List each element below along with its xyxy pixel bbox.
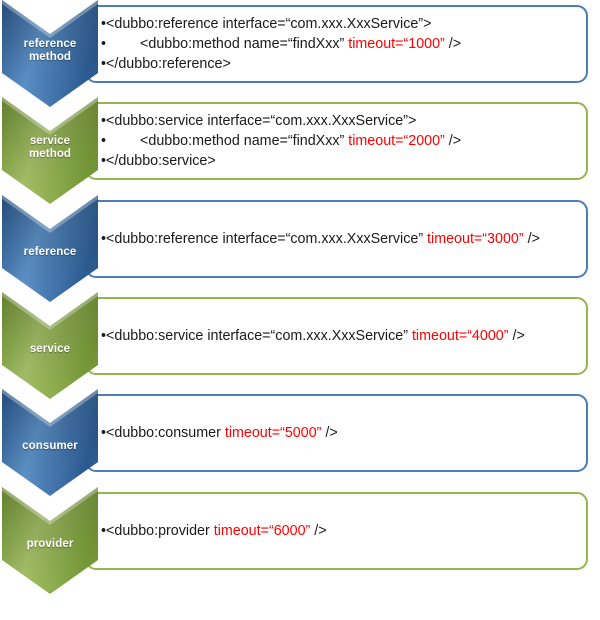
code-text: <dubbo:provider	[106, 523, 214, 539]
code-text: />	[321, 425, 337, 441]
code-line-group: •<dubbo:service interface=“com.xxx.XxxSe…	[101, 299, 580, 373]
diagram-row: •<dubbo:consumer timeout=“5000” />consum…	[0, 389, 600, 499]
code-line-group: •<dubbo:service interface=“com.xxx.XxxSe…	[101, 104, 580, 178]
diagram-row: •<dubbo:service interface=“com.xxx.XxxSe…	[0, 97, 600, 207]
chevron-arrow-icon: reference	[2, 195, 98, 305]
code-box: •<dubbo:provider timeout=“6000” />	[85, 492, 588, 570]
code-line: •<dubbo:reference interface=“com.xxx.Xxx…	[101, 229, 580, 249]
code-box: •<dubbo:consumer timeout=“5000” />	[85, 394, 588, 472]
code-box: •<dubbo:reference interface=“com.xxx.Xxx…	[85, 5, 588, 83]
code-text: <dubbo:method name=“findXxx”	[140, 36, 348, 52]
code-line: •</dubbo:service>	[101, 151, 580, 171]
code-line: •<dubbo:service interface=“com.xxx.XxxSe…	[101, 111, 580, 131]
code-text: />	[445, 36, 461, 52]
timeout-attribute: timeout=“5000”	[225, 425, 322, 441]
code-box: •<dubbo:service interface=“com.xxx.XxxSe…	[85, 102, 588, 180]
timeout-attribute: timeout=“3000”	[427, 231, 524, 247]
code-box: •<dubbo:reference interface=“com.xxx.Xxx…	[85, 200, 588, 278]
code-line-group: •<dubbo:consumer timeout=“5000” />	[101, 396, 580, 470]
code-text: </dubbo:service>	[106, 153, 216, 169]
bullet-icon: •	[101, 36, 106, 52]
code-text: <dubbo:service interface=“com.xxx.XxxSer…	[106, 328, 412, 344]
code-line: •<dubbo:provider timeout=“6000” />	[101, 521, 580, 541]
code-line: •<dubbo:method name=“findXxx” timeout=“1…	[101, 34, 580, 54]
diagram-row: •<dubbo:provider timeout=“6000” />provid…	[0, 487, 600, 597]
code-text: <dubbo:consumer	[106, 425, 225, 441]
code-text: <dubbo:service interface=“com.xxx.XxxSer…	[106, 113, 416, 129]
code-line: •<dubbo:service interface=“com.xxx.XxxSe…	[101, 326, 580, 346]
code-text: />	[509, 328, 525, 344]
code-text: />	[310, 523, 326, 539]
code-line-group: •<dubbo:provider timeout=“6000” />	[101, 494, 580, 568]
chevron-arrow-icon: provider	[2, 487, 98, 597]
code-text: />	[445, 133, 461, 149]
chevron-arrow-icon: servicemethod	[2, 97, 98, 207]
code-box: •<dubbo:service interface=“com.xxx.XxxSe…	[85, 297, 588, 375]
code-line: •<dubbo:reference interface=“com.xxx.Xxx…	[101, 14, 580, 34]
code-line: •<dubbo:method name=“findXxx” timeout=“2…	[101, 131, 580, 151]
timeout-attribute: timeout=“1000”	[348, 36, 445, 52]
diagram-row: •<dubbo:reference interface=“com.xxx.Xxx…	[0, 195, 600, 305]
bullet-icon: •	[101, 133, 106, 149]
code-text: />	[524, 231, 540, 247]
code-line-group: •<dubbo:reference interface=“com.xxx.Xxx…	[101, 7, 580, 81]
dubbo-timeout-precedence-diagram: •<dubbo:reference interface=“com.xxx.Xxx…	[0, 0, 600, 620]
diagram-row: •<dubbo:reference interface=“com.xxx.Xxx…	[0, 0, 600, 110]
code-text: <dubbo:reference interface=“com.xxx.XxxS…	[106, 231, 427, 247]
chevron-arrow-icon: service	[2, 292, 98, 402]
chevron-arrow-icon: referencemethod	[2, 0, 98, 110]
timeout-attribute: timeout=“6000”	[214, 523, 311, 539]
timeout-attribute: timeout=“4000”	[412, 328, 509, 344]
code-line: •</dubbo:reference>	[101, 54, 580, 74]
code-text: <dubbo:reference interface=“com.xxx.XxxS…	[106, 16, 431, 32]
code-text: <dubbo:method name=“findXxx”	[140, 133, 348, 149]
code-line: •<dubbo:consumer timeout=“5000” />	[101, 423, 580, 443]
timeout-attribute: timeout=“2000”	[348, 133, 445, 149]
code-text: </dubbo:reference>	[106, 56, 231, 72]
chevron-arrow-icon: consumer	[2, 389, 98, 499]
diagram-row: •<dubbo:service interface=“com.xxx.XxxSe…	[0, 292, 600, 402]
code-line-group: •<dubbo:reference interface=“com.xxx.Xxx…	[101, 202, 580, 276]
